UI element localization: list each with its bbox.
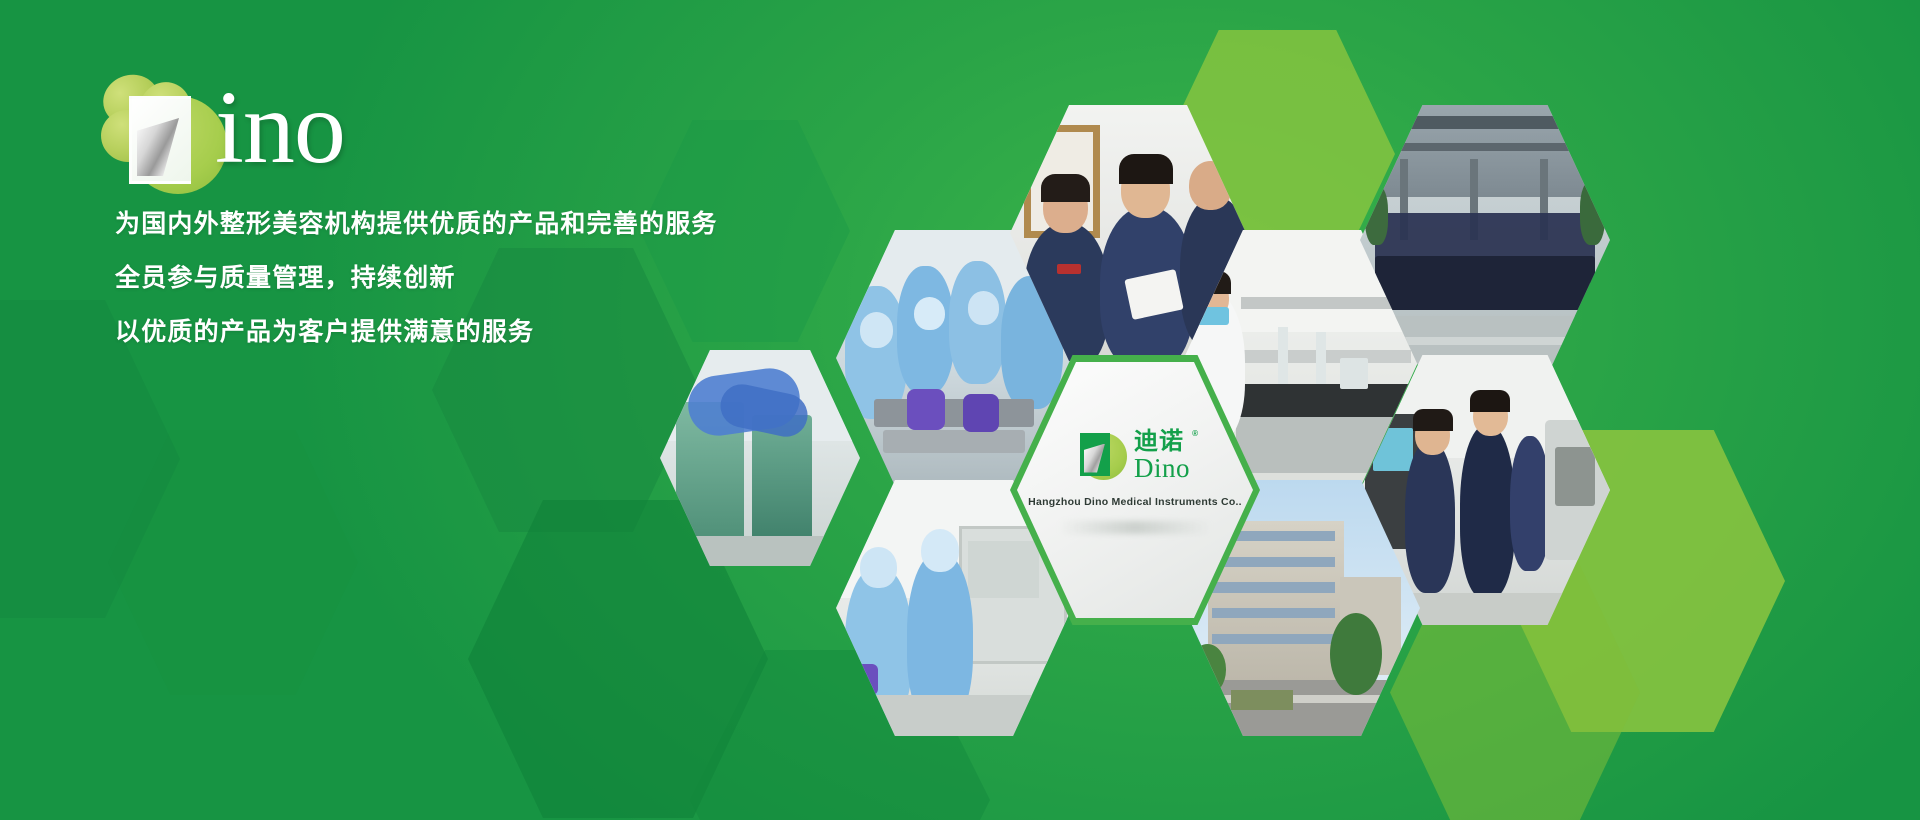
hex-machining-shop[interactable] xyxy=(660,350,860,566)
center-logo-mark-icon xyxy=(1080,433,1127,480)
center-logo-brand-en: Dino xyxy=(1134,455,1190,482)
registered-mark-icon: ® xyxy=(1192,430,1199,438)
photo-machining-shop xyxy=(660,350,860,566)
center-logo-caption: Hangzhou Dino Medical Instruments Co.. xyxy=(1028,496,1242,508)
center-logo-brand-cn-text: 迪诺 xyxy=(1134,428,1184,455)
hex-logo-center-inner: 迪诺® Dino Hangzhou Dino Medical Instrumen… xyxy=(1017,362,1253,618)
center-logo-lockup: 迪诺® Dino xyxy=(1080,430,1190,482)
center-logo-brand-cn: 迪诺® xyxy=(1134,430,1190,454)
hero-banner: ino 为国内外整形美容机构提供优质的产品和完善的服务 全员参与质量管理，持续创… xyxy=(0,0,1920,820)
logo-wordmark: ino xyxy=(215,76,345,180)
center-logo-blurred-strip xyxy=(1059,521,1211,534)
hexagon-photo-cluster: 迪诺® Dino Hangzhou Dino Medical Instrumen… xyxy=(660,105,1920,705)
dino-logo[interactable]: ino xyxy=(95,72,425,182)
